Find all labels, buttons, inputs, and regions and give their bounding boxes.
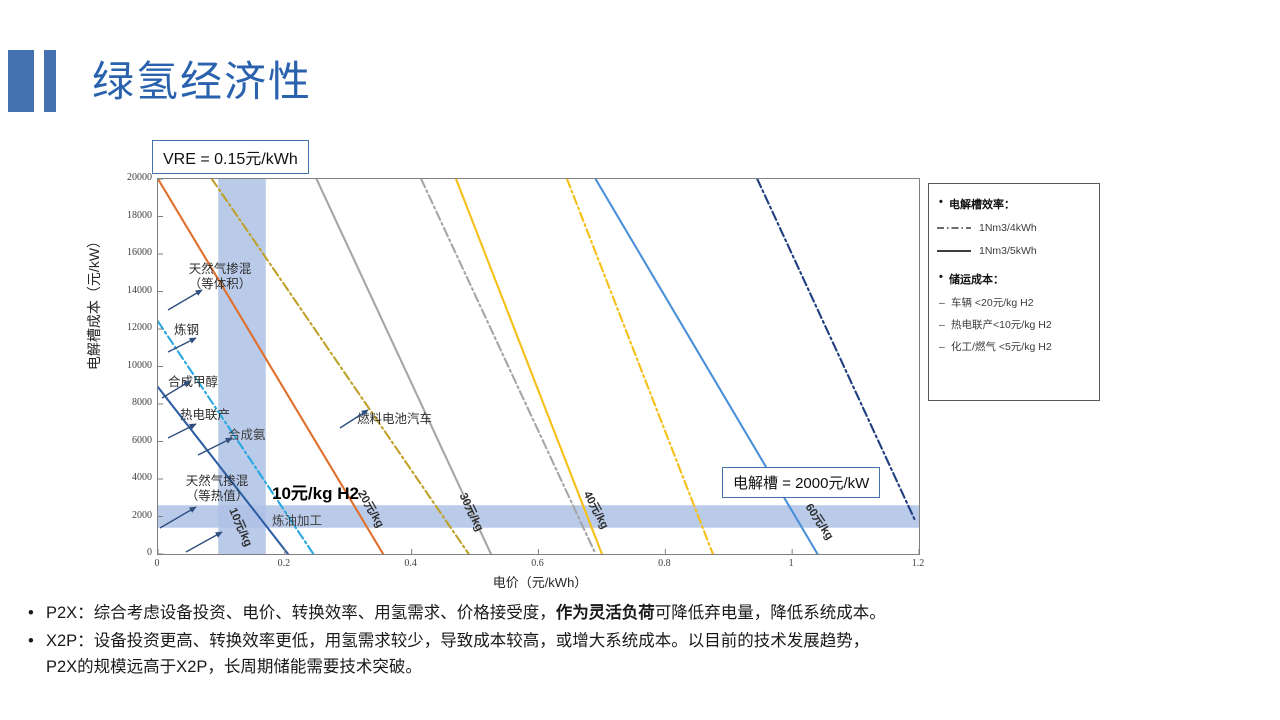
- legend-efficiency-header: • 电解槽效率：: [939, 196, 1091, 212]
- dash-icon-1: –: [939, 297, 951, 309]
- title-accent-block-2: [44, 50, 56, 112]
- bullet-x2p-line2: P2X的规模远高于X2P，长周期储能需要技术突破。: [46, 658, 422, 676]
- bullet-x2p-text: 设备投资更高、转换效率更低，用氢需求较少，导致成本较高，或增大系统成本。以目前的…: [94, 632, 870, 650]
- annotation-chp: 热电联产: [180, 408, 230, 423]
- y-tick-label: 6000: [132, 435, 152, 446]
- vre-callout-box[interactable]: VRE = 0.15元/kWh: [152, 140, 309, 174]
- y-tick-label: 8000: [132, 397, 152, 408]
- x-tick-label: 0.6: [518, 558, 558, 569]
- legend-storage-item-chp: –热电联产<10元/kg H2: [939, 317, 1091, 332]
- x-tick-label: 0.8: [644, 558, 684, 569]
- y-tick-label: 20000: [127, 172, 152, 183]
- bullet-x2p-tag: X2P：: [46, 632, 94, 650]
- y-tick-label: 18000: [127, 210, 152, 221]
- bullet-p2x-text2: 可降低弃电量，降低系统成本。: [655, 604, 886, 622]
- cost-label-10-yuan: 10元/kg H2: [272, 479, 359, 504]
- y-tick-label: 12000: [127, 322, 152, 333]
- x-tick-label: 1: [771, 558, 811, 569]
- x-tick-label: 0.4: [391, 558, 431, 569]
- bullet-p2x-tag: P2X：: [46, 604, 94, 622]
- annotation-natural-gas-blend-volume: 天然气掺混 （等体积）: [172, 262, 268, 292]
- bullet-dot-icon: •: [939, 196, 949, 212]
- y-tick-label: 10000: [127, 360, 152, 371]
- legend-item-4kwh: 1Nm3/4kWh: [937, 222, 1091, 234]
- dash-icon-2: –: [939, 319, 951, 331]
- y-tick-label: 0: [147, 547, 152, 558]
- y-axis-title: 电解槽成本（元/kW）: [84, 202, 104, 402]
- annotation-fuel-cell-vehicle: 燃料电池汽车: [357, 412, 432, 427]
- bullet-p2x-bold: 作为灵活负荷: [556, 604, 655, 622]
- bullet-marker-icon-2: •: [28, 628, 46, 680]
- bullet-marker-icon-1: •: [28, 600, 46, 626]
- annotation-ammonia-synthesis: 合成氨: [228, 428, 266, 443]
- legend-storage-header: • 储运成本：: [939, 271, 1091, 287]
- bullet-dot-icon-2: •: [939, 271, 949, 287]
- x-axis-title: 电价（元/kWh）: [400, 572, 680, 591]
- page-title: 绿氢经济性: [92, 52, 312, 112]
- bullet-p2x: • P2X：综合考虑设备投资、电价、转换效率、用氢需求、价格接受度，作为灵活负荷…: [28, 600, 1268, 626]
- x-tick-label: 0.2: [264, 558, 304, 569]
- legend-storage-item-vehicle: –车辆 <20元/kg H2: [939, 295, 1091, 310]
- x-tick-label: 0: [137, 558, 177, 569]
- bullet-x2p: • X2P：设备投资更高、转换效率更低，用氢需求较少，导致成本较高，或增大系统成…: [28, 628, 1268, 680]
- y-tick-label: 2000: [132, 510, 152, 521]
- y-tick-label: 14000: [127, 285, 152, 296]
- legend-label-5kwh: 1Nm3/5kWh: [979, 245, 1037, 257]
- annotation-steelmaking: 炼钢: [174, 323, 199, 338]
- legend-storage-item-chemical: –化工/燃气 <5元/kg H2: [939, 339, 1091, 354]
- solid-line-icon: [937, 246, 971, 256]
- legend-item-5kwh: 1Nm3/5kWh: [937, 245, 1091, 257]
- chart-legend: • 电解槽效率： 1Nm3/4kWh 1Nm3/5kWh • 储运成本： –车辆…: [928, 183, 1100, 401]
- dash-icon-3: –: [939, 341, 951, 353]
- series-line-40元/kg: [456, 179, 602, 554]
- bullet-list: • P2X：综合考虑设备投资、电价、转换效率、用氢需求、价格接受度，作为灵活负荷…: [28, 600, 1268, 682]
- title-accent-block-1: [8, 50, 34, 112]
- x-tick-label: 1.2: [898, 558, 938, 569]
- annotation-natural-gas-blend-heat: 天然气掺混 （等热值）: [169, 474, 265, 504]
- electrolyzer-callout-box[interactable]: 电解槽 = 2000元/kW: [722, 467, 880, 498]
- annotation-methanol-synthesis: 合成甲醇: [168, 375, 218, 390]
- annotation-oil-refining: 炼油加工: [272, 514, 322, 529]
- legend-label-4kwh: 1Nm3/4kWh: [979, 222, 1037, 234]
- series-line-30元/kg-4kWh: [421, 179, 595, 554]
- bullet-p2x-text: 综合考虑设备投资、电价、转换效率、用氢需求、价格接受度，: [94, 604, 556, 622]
- y-tick-label: 16000: [127, 247, 152, 258]
- dash-dot-line-icon: [937, 223, 971, 233]
- y-tick-label: 4000: [132, 472, 152, 483]
